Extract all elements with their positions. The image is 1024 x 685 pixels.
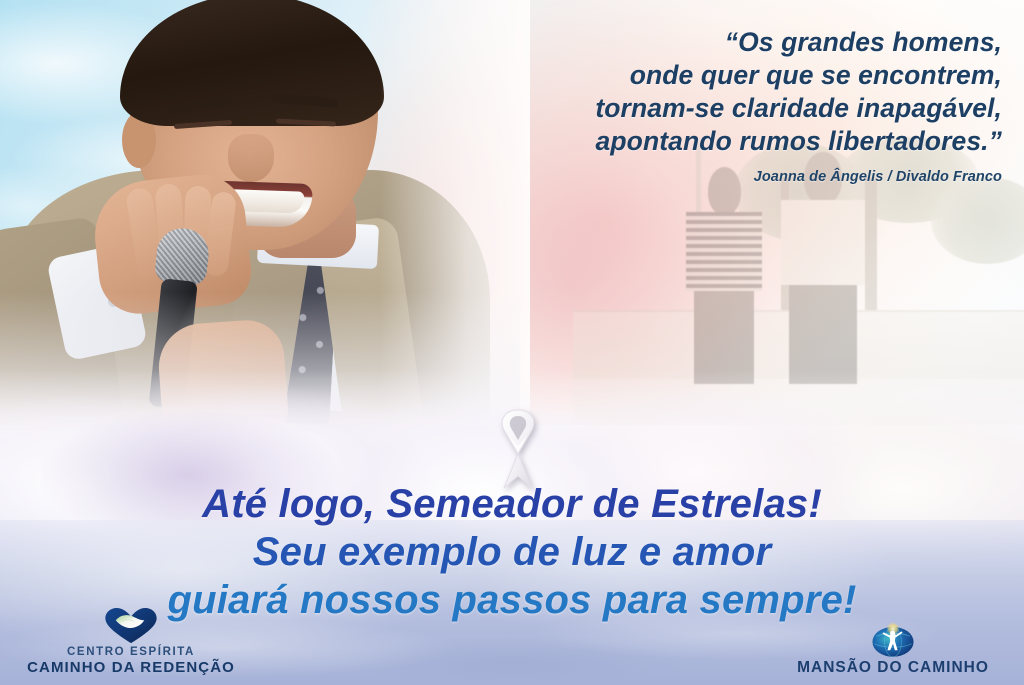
quote-block: “Os grandes homens, onde quer que se enc…: [442, 26, 1002, 185]
walking-person-figure: [686, 212, 761, 385]
quote-line-2: onde quer que se encontrem,: [442, 59, 1002, 92]
logo-left-line-1: CENTRO ESPÍRITA: [6, 645, 256, 659]
headline-line-1: Até logo, Semeador de Estrelas!: [0, 484, 1024, 524]
quote-line-4: apontando rumos libertadores.”: [442, 125, 1002, 158]
nose-shape: [228, 134, 274, 182]
headline-block: Até logo, Semeador de Estrelas! Seu exem…: [0, 484, 1024, 620]
quote-line-3: tornam-se claridade inapagável,: [442, 92, 1002, 125]
microphone-grille: [154, 226, 212, 287]
striped-shirt-shape: [686, 212, 761, 291]
white-awareness-ribbon-icon: [479, 406, 557, 492]
heart-hands-icon: [6, 607, 256, 645]
quote-attribution: Joanna de Ângelis / Divaldo Franco: [442, 169, 1002, 185]
logo-mansao-do-caminho: MANSÃO DO CAMINHO: [768, 621, 1018, 677]
quote-line-1: “Os grandes homens,: [442, 26, 1002, 59]
light-shirt-shape: [781, 200, 866, 285]
headline-line-2: Seu exemplo de luz e amor: [0, 532, 1024, 572]
memorial-poster: “Os grandes homens, onde quer que se enc…: [0, 0, 1024, 685]
logo-right-line-2: MANSÃO DO CAMINHO: [768, 659, 1018, 677]
globe-figure-icon: [768, 621, 1018, 659]
walking-person-figure: [781, 200, 866, 384]
logo-left-line-2: CAMINHO DA REDENÇÃO: [6, 659, 256, 677]
hair-shape: [120, 0, 384, 126]
tree-canopy-icon: [931, 177, 1024, 263]
logo-centro-espirita: CENTRO ESPÍRITA CAMINHO DA REDENÇÃO: [6, 607, 256, 677]
